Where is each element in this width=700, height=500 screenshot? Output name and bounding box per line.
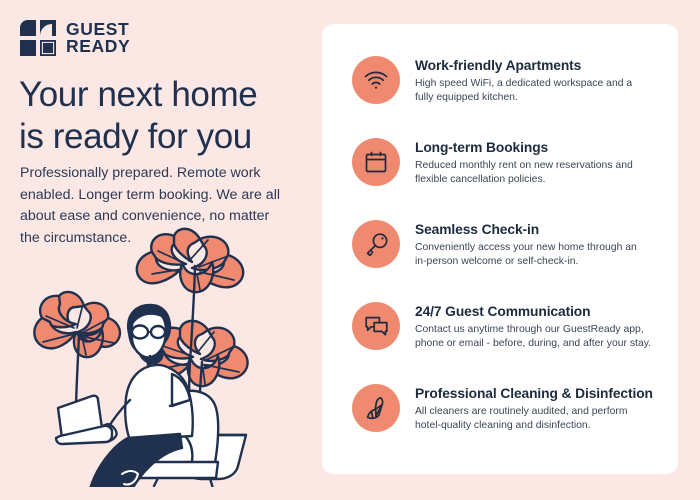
feature-title: Work-friendly Apartments (415, 57, 660, 74)
feature-item-seamless-check-in[interactable]: Seamless Check-in Conveniently access yo… (352, 219, 660, 301)
feature-text: Seamless Check-in Conveniently access yo… (415, 219, 660, 268)
feature-text: 24/7 Guest Communication Contact us anyt… (415, 301, 660, 350)
features-card: Work-friendly Apartments High speed WiFi… (322, 24, 678, 474)
feature-item-long-term-bookings[interactable]: Long-term Bookings Reduced monthly rent … (352, 137, 660, 219)
feature-title: Long-term Bookings (415, 139, 660, 156)
broom-icon (352, 384, 400, 432)
hero-panel: GUEST READY Your next home is ready for … (0, 0, 322, 500)
feature-description: Reduced monthly rent on new reservations… (415, 159, 660, 186)
feature-item-work-friendly-apartments[interactable]: Work-friendly Apartments High speed WiFi… (352, 55, 660, 137)
woman-with-laptop-in-armchair-with-plants-illustration (32, 222, 314, 487)
feature-description: All cleaners are routinely audited, and … (415, 405, 660, 432)
brand-logo[interactable]: GUEST READY (19, 19, 130, 57)
guestready-quadrant-logo-icon (19, 19, 57, 57)
feature-text: Work-friendly Apartments High speed WiFi… (415, 55, 660, 104)
feature-description: Conveniently access your new home throug… (415, 241, 660, 268)
feature-description: Contact us anytime through our GuestRead… (415, 323, 660, 350)
feature-item-professional-cleaning[interactable]: Professional Cleaning & Disinfection All… (352, 383, 660, 465)
page-title: Your next home is ready for you (19, 74, 319, 158)
feature-title: 24/7 Guest Communication (415, 303, 660, 320)
feature-description: High speed WiFi, a dedicated workspace a… (415, 77, 660, 104)
feature-title: Seamless Check-in (415, 221, 660, 238)
chat-bubbles-icon (352, 302, 400, 350)
brand-name-line-2: READY (66, 38, 130, 55)
calendar-icon (352, 138, 400, 186)
feature-item-guest-communication[interactable]: 24/7 Guest Communication Contact us anyt… (352, 301, 660, 383)
feature-title: Professional Cleaning & Disinfection (415, 385, 660, 402)
feature-text: Professional Cleaning & Disinfection All… (415, 383, 660, 432)
key-icon (352, 220, 400, 268)
feature-text: Long-term Bookings Reduced monthly rent … (415, 137, 660, 186)
wifi-icon (352, 56, 400, 104)
feature-list: Work-friendly Apartments High speed WiFi… (322, 24, 678, 474)
